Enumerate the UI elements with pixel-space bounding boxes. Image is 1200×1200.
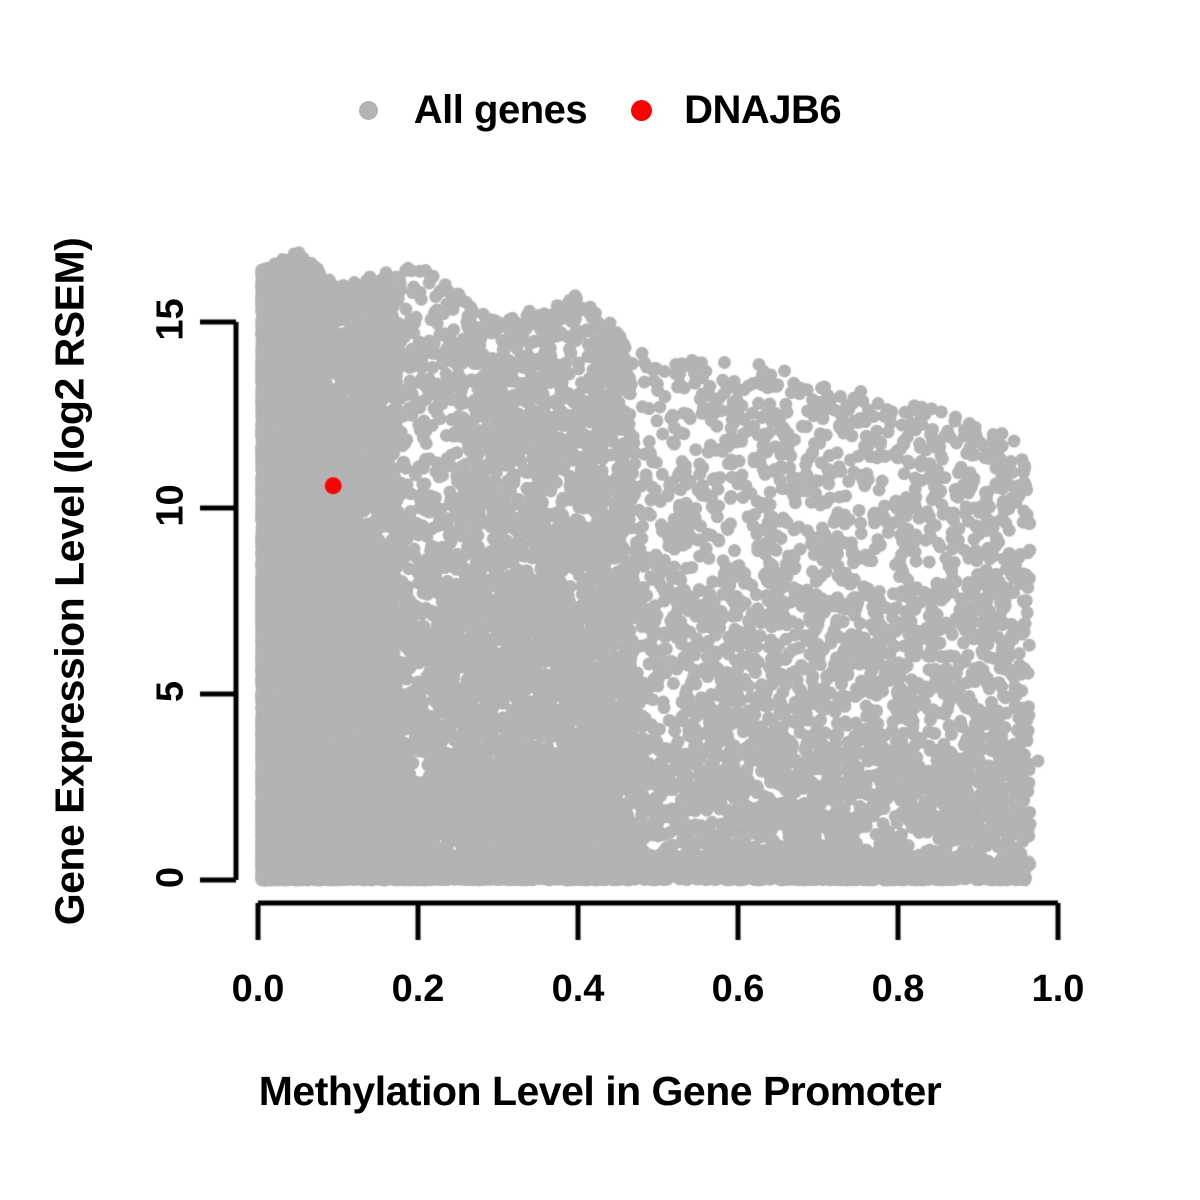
x-axis-title: Methylation Level in Gene Promoter (0, 1068, 1200, 1115)
x-tick-label-0: 0.0 (198, 968, 318, 1011)
x-tick-label-4: 0.8 (838, 968, 958, 1011)
plot-area (0, 0, 1200, 1200)
y-tick-label-0: 0 (150, 823, 193, 933)
y-tick-label-2: 10 (150, 451, 193, 561)
x-tick-label-3: 0.6 (678, 968, 798, 1011)
y-axis-title: Gene Expression Level (log2 RSEM) (47, 182, 94, 982)
scatter-plot-figure: All genes DNAJB6 0.0 0.2 0.4 0.6 0.8 1.0… (0, 0, 1200, 1200)
x-tick-label-1: 0.2 (358, 968, 478, 1011)
y-tick-label-1: 5 (150, 637, 193, 747)
x-tick-label-2: 0.4 (518, 968, 638, 1011)
y-tick-label-3: 15 (150, 265, 193, 375)
x-tick-label-5: 1.0 (998, 968, 1118, 1011)
